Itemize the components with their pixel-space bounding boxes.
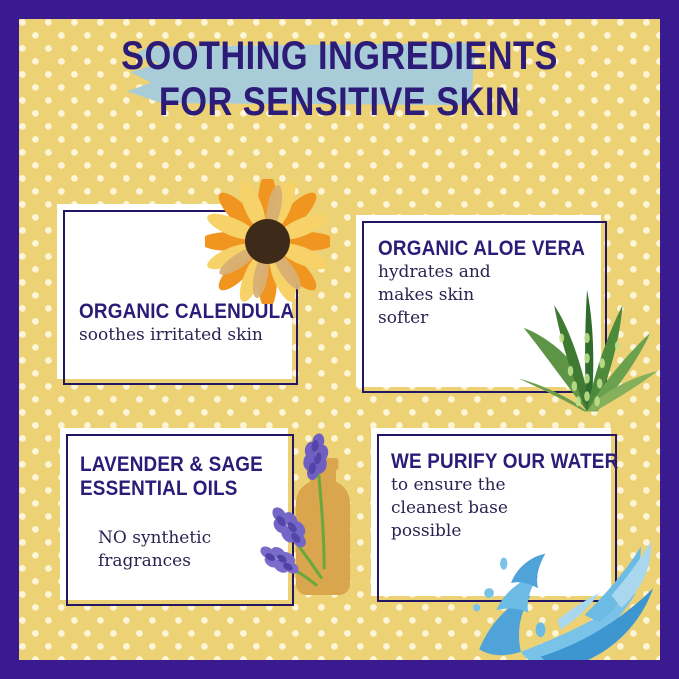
card-body: to ensure the cleanest base possible <box>391 474 541 543</box>
lavender-oil-bottle-icon <box>251 427 369 605</box>
card-heading: WE PURIFY OUR WATER <box>391 450 589 474</box>
card-body: soothes irritated skin <box>79 324 292 347</box>
card-heading-line-2: ESSENTIAL OILS <box>80 477 267 501</box>
card-body: NO synthetic fragrances <box>80 527 248 573</box>
polka-dot-background: SOOTHING INGREDIENTS FOR SENSITIVE SKIN … <box>19 19 660 660</box>
water-splash-icon <box>467 539 660 660</box>
calendula-flower-icon <box>205 179 330 304</box>
card-body: hydrates and makes skin softer <box>378 261 526 330</box>
card-content: WE PURIFY OUR WATER to ensure the cleane… <box>371 428 611 543</box>
poster-title: SOOTHING INGREDIENTS FOR SENSITIVE SKIN <box>19 33 660 125</box>
title-line-2: FOR SENSITIVE SKIN <box>64 79 615 125</box>
card-heading: ORGANIC ALOE VERA <box>378 237 579 261</box>
aloe-vera-plant-icon <box>511 262 660 414</box>
title-line-1: SOOTHING INGREDIENTS <box>64 33 615 79</box>
card-heading-line-1: LAVENDER & SAGE <box>80 453 267 477</box>
infographic-poster: SOOTHING INGREDIENTS FOR SENSITIVE SKIN … <box>0 0 679 679</box>
